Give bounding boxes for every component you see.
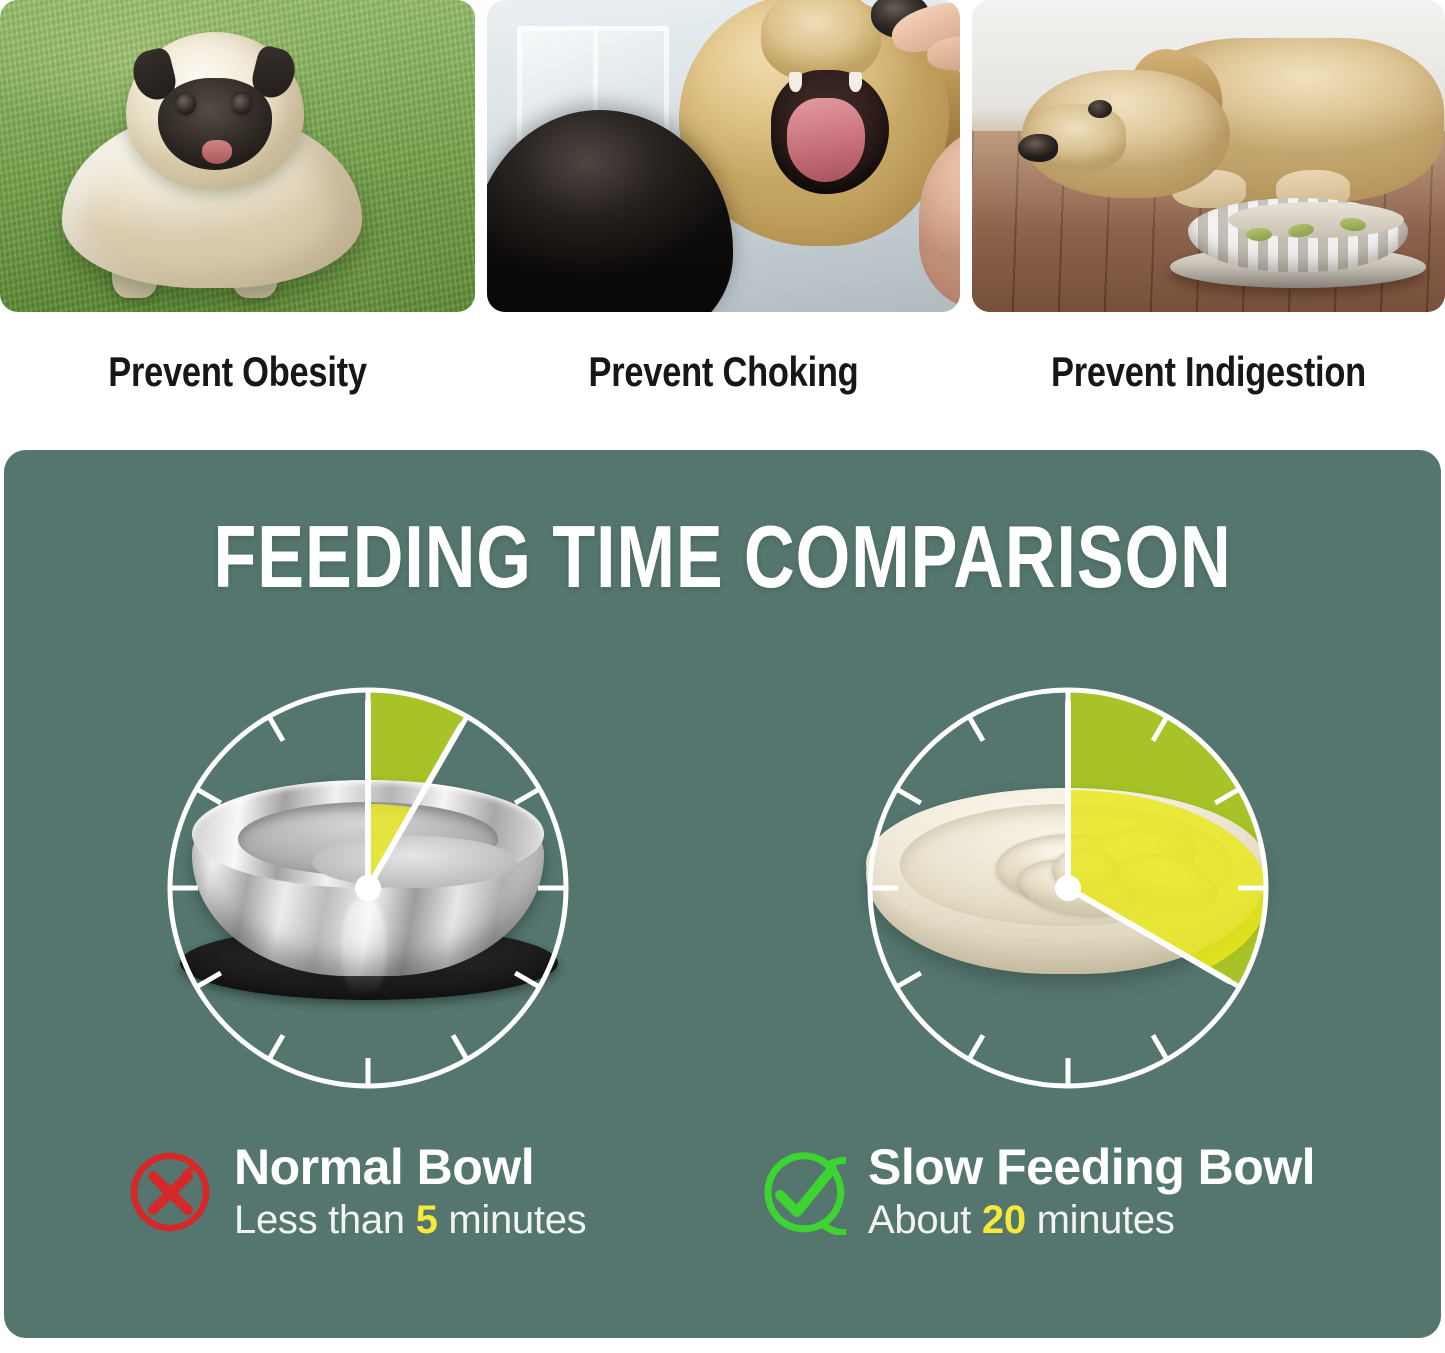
- feeding-time-comparison-panel: FEEDING TIME COMPARISON: [4, 450, 1441, 1338]
- steel-bowl-with-food: [1170, 180, 1426, 288]
- result-sub-value: 5: [416, 1198, 438, 1242]
- labrador-nose: [1018, 134, 1058, 162]
- photo-prevent-choking: [487, 0, 960, 312]
- caption-prevent-indigestion: Prevent Indigestion: [1015, 338, 1403, 406]
- labrador-head: [1022, 70, 1230, 198]
- retriever-open-mouth: [771, 70, 889, 194]
- result-title-slow-feeding-bowl: Slow Feeding Bowl: [868, 1140, 1315, 1195]
- retriever-tooth-right: [849, 72, 862, 92]
- clock-dials-row: [4, 676, 1441, 1100]
- result-sub-suffix: minutes: [448, 1198, 586, 1242]
- result-sub-value: 20: [982, 1198, 1026, 1242]
- result-normal-bowl: Normal Bowl Less than 5 minutes: [128, 1140, 586, 1245]
- pug-eye-left: [176, 94, 196, 115]
- result-subtitle-slow-feeding-bowl: About 20 minutes: [868, 1195, 1315, 1245]
- cross-circle-icon: [128, 1151, 212, 1235]
- clock-dial-normal-bowl: [156, 676, 580, 1100]
- dial-overlay-normal: [156, 676, 580, 1100]
- panel-title: FEEDING TIME COMPARISON: [148, 506, 1298, 608]
- retriever-tongue: [787, 98, 865, 182]
- pug-illustration: [48, 14, 378, 296]
- caption-prevent-choking: Prevent Choking: [530, 338, 918, 406]
- benefit-caption-row: Prevent Obesity Prevent Choking Prevent …: [0, 338, 1445, 406]
- photo-prevent-indigestion: [972, 0, 1445, 312]
- labrador-eye: [1088, 100, 1112, 118]
- result-text-normal-bowl: Normal Bowl Less than 5 minutes: [234, 1140, 586, 1245]
- labrador-muzzle: [1022, 104, 1126, 174]
- retriever-tooth-left: [789, 72, 802, 92]
- dial-overlay-slow: [856, 676, 1280, 1100]
- clock-dial-slow-feeding-bowl: [856, 676, 1280, 1100]
- result-text-slow-feeding-bowl: Slow Feeding Bowl About 20 minutes: [868, 1140, 1315, 1245]
- food-piece: [1246, 228, 1272, 241]
- check-circle-icon: [762, 1151, 846, 1235]
- pug-eye-right: [232, 94, 252, 115]
- pug-face-mask: [158, 78, 272, 170]
- result-sub-prefix: About: [868, 1198, 971, 1242]
- result-subtitle-normal-bowl: Less than 5 minutes: [234, 1195, 586, 1245]
- result-sub-suffix: minutes: [1037, 1198, 1175, 1242]
- photo-prevent-obesity: [0, 0, 475, 312]
- benefit-photo-strip: [0, 0, 1445, 312]
- pug-head: [126, 32, 304, 190]
- pug-tongue: [202, 140, 232, 164]
- comparison-results-row: Normal Bowl Less than 5 minutes Slow Fee…: [4, 1140, 1441, 1290]
- caption-prevent-obesity: Prevent Obesity: [43, 338, 433, 406]
- result-title-normal-bowl: Normal Bowl: [234, 1140, 586, 1195]
- bowl-body: [1188, 198, 1408, 272]
- result-sub-prefix: Less than: [234, 1198, 405, 1242]
- result-slow-feeding-bowl: Slow Feeding Bowl About 20 minutes: [762, 1140, 1315, 1245]
